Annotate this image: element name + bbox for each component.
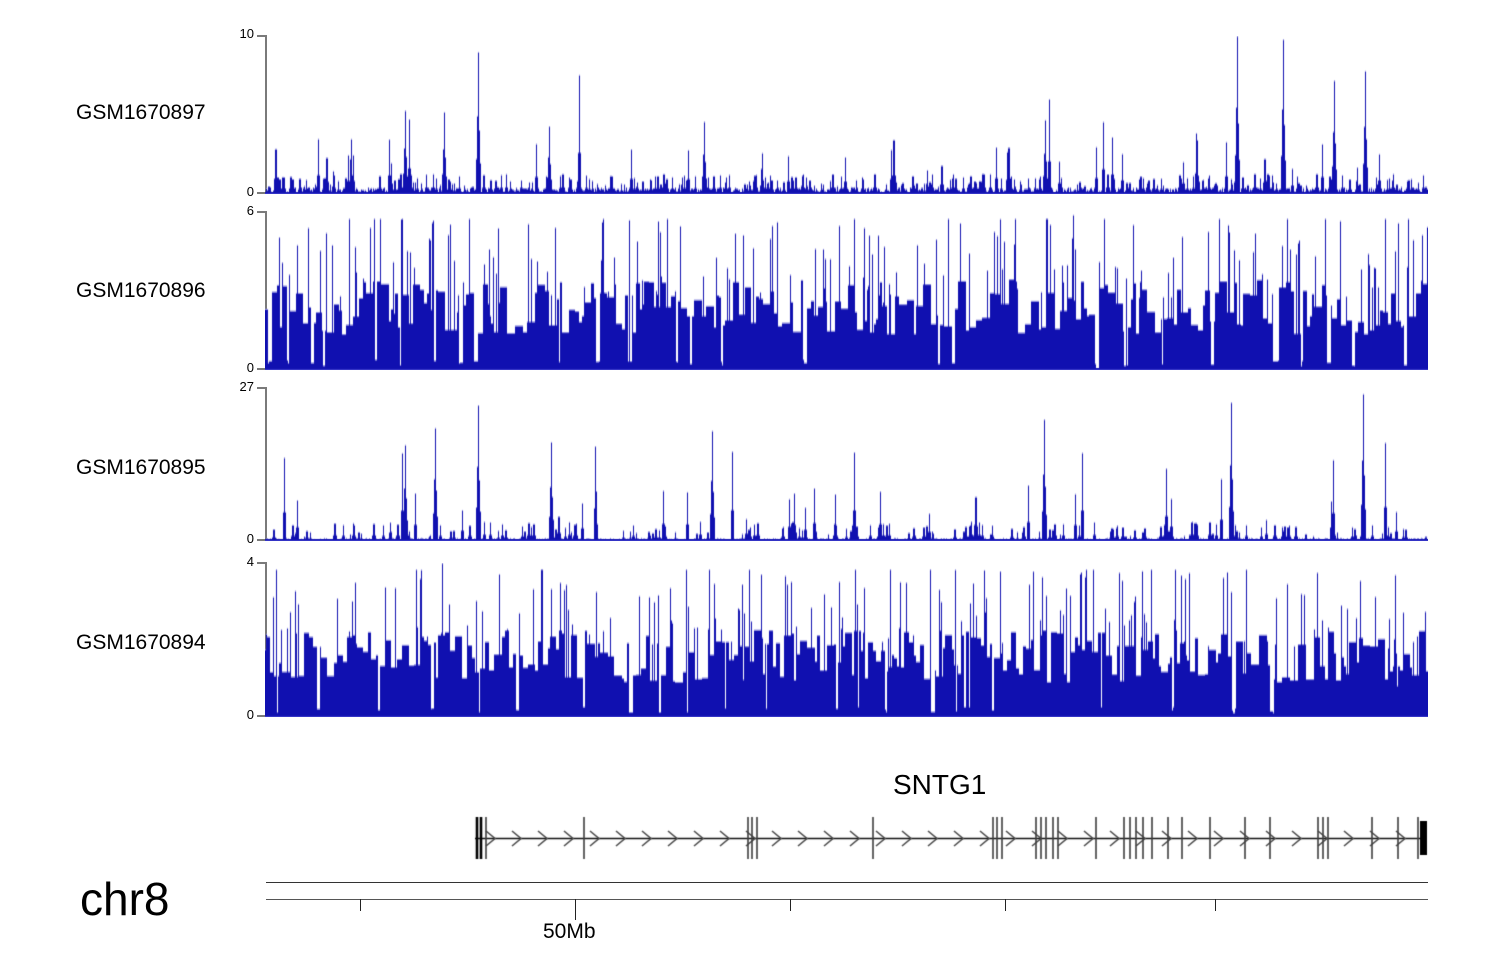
track-1-ymax-label: 10 — [216, 26, 254, 41]
ruler-line-top — [266, 882, 1428, 883]
track-2-ymax-label: 6 — [216, 203, 254, 218]
track-4-ymin-label: 0 — [216, 707, 254, 722]
gene-model-track[interactable] — [440, 808, 1440, 868]
track-3-ymin-label: 0 — [210, 531, 254, 546]
genome-browser-view: GSM1670897 10 0 GSM1670896 6 0 GSM167089… — [0, 0, 1500, 980]
track-4-ymax-label: 4 — [216, 554, 254, 569]
track-label-4: GSM1670894 — [76, 631, 206, 655]
track-3-signal-plot[interactable] — [265, 388, 1428, 541]
ruler-tick-4 — [1005, 899, 1006, 911]
chromosome-label: chr8 — [80, 872, 169, 926]
track-3-ymax-label: 27 — [210, 379, 254, 394]
ruler-tick-3 — [790, 899, 791, 911]
track-2-signal-plot[interactable] — [265, 212, 1428, 370]
track-label-3: GSM1670895 — [76, 456, 206, 480]
ruler-label-50mb: 50Mb — [543, 920, 596, 944]
ruler-tick-1 — [360, 899, 361, 911]
track-1-ymin-label: 0 — [216, 184, 254, 199]
ruler-tick-50mb — [575, 899, 576, 920]
track-label-1: GSM1670897 — [76, 101, 206, 125]
ruler-line-bottom — [266, 899, 1428, 900]
track-label-2: GSM1670896 — [76, 279, 206, 303]
ruler-tick-5 — [1215, 899, 1216, 911]
track-4-signal-plot[interactable] — [265, 563, 1428, 717]
track-1-signal-plot[interactable] — [265, 36, 1428, 194]
gene-name-label: SNTG1 — [893, 769, 986, 801]
track-2-ymin-label: 0 — [216, 360, 254, 375]
